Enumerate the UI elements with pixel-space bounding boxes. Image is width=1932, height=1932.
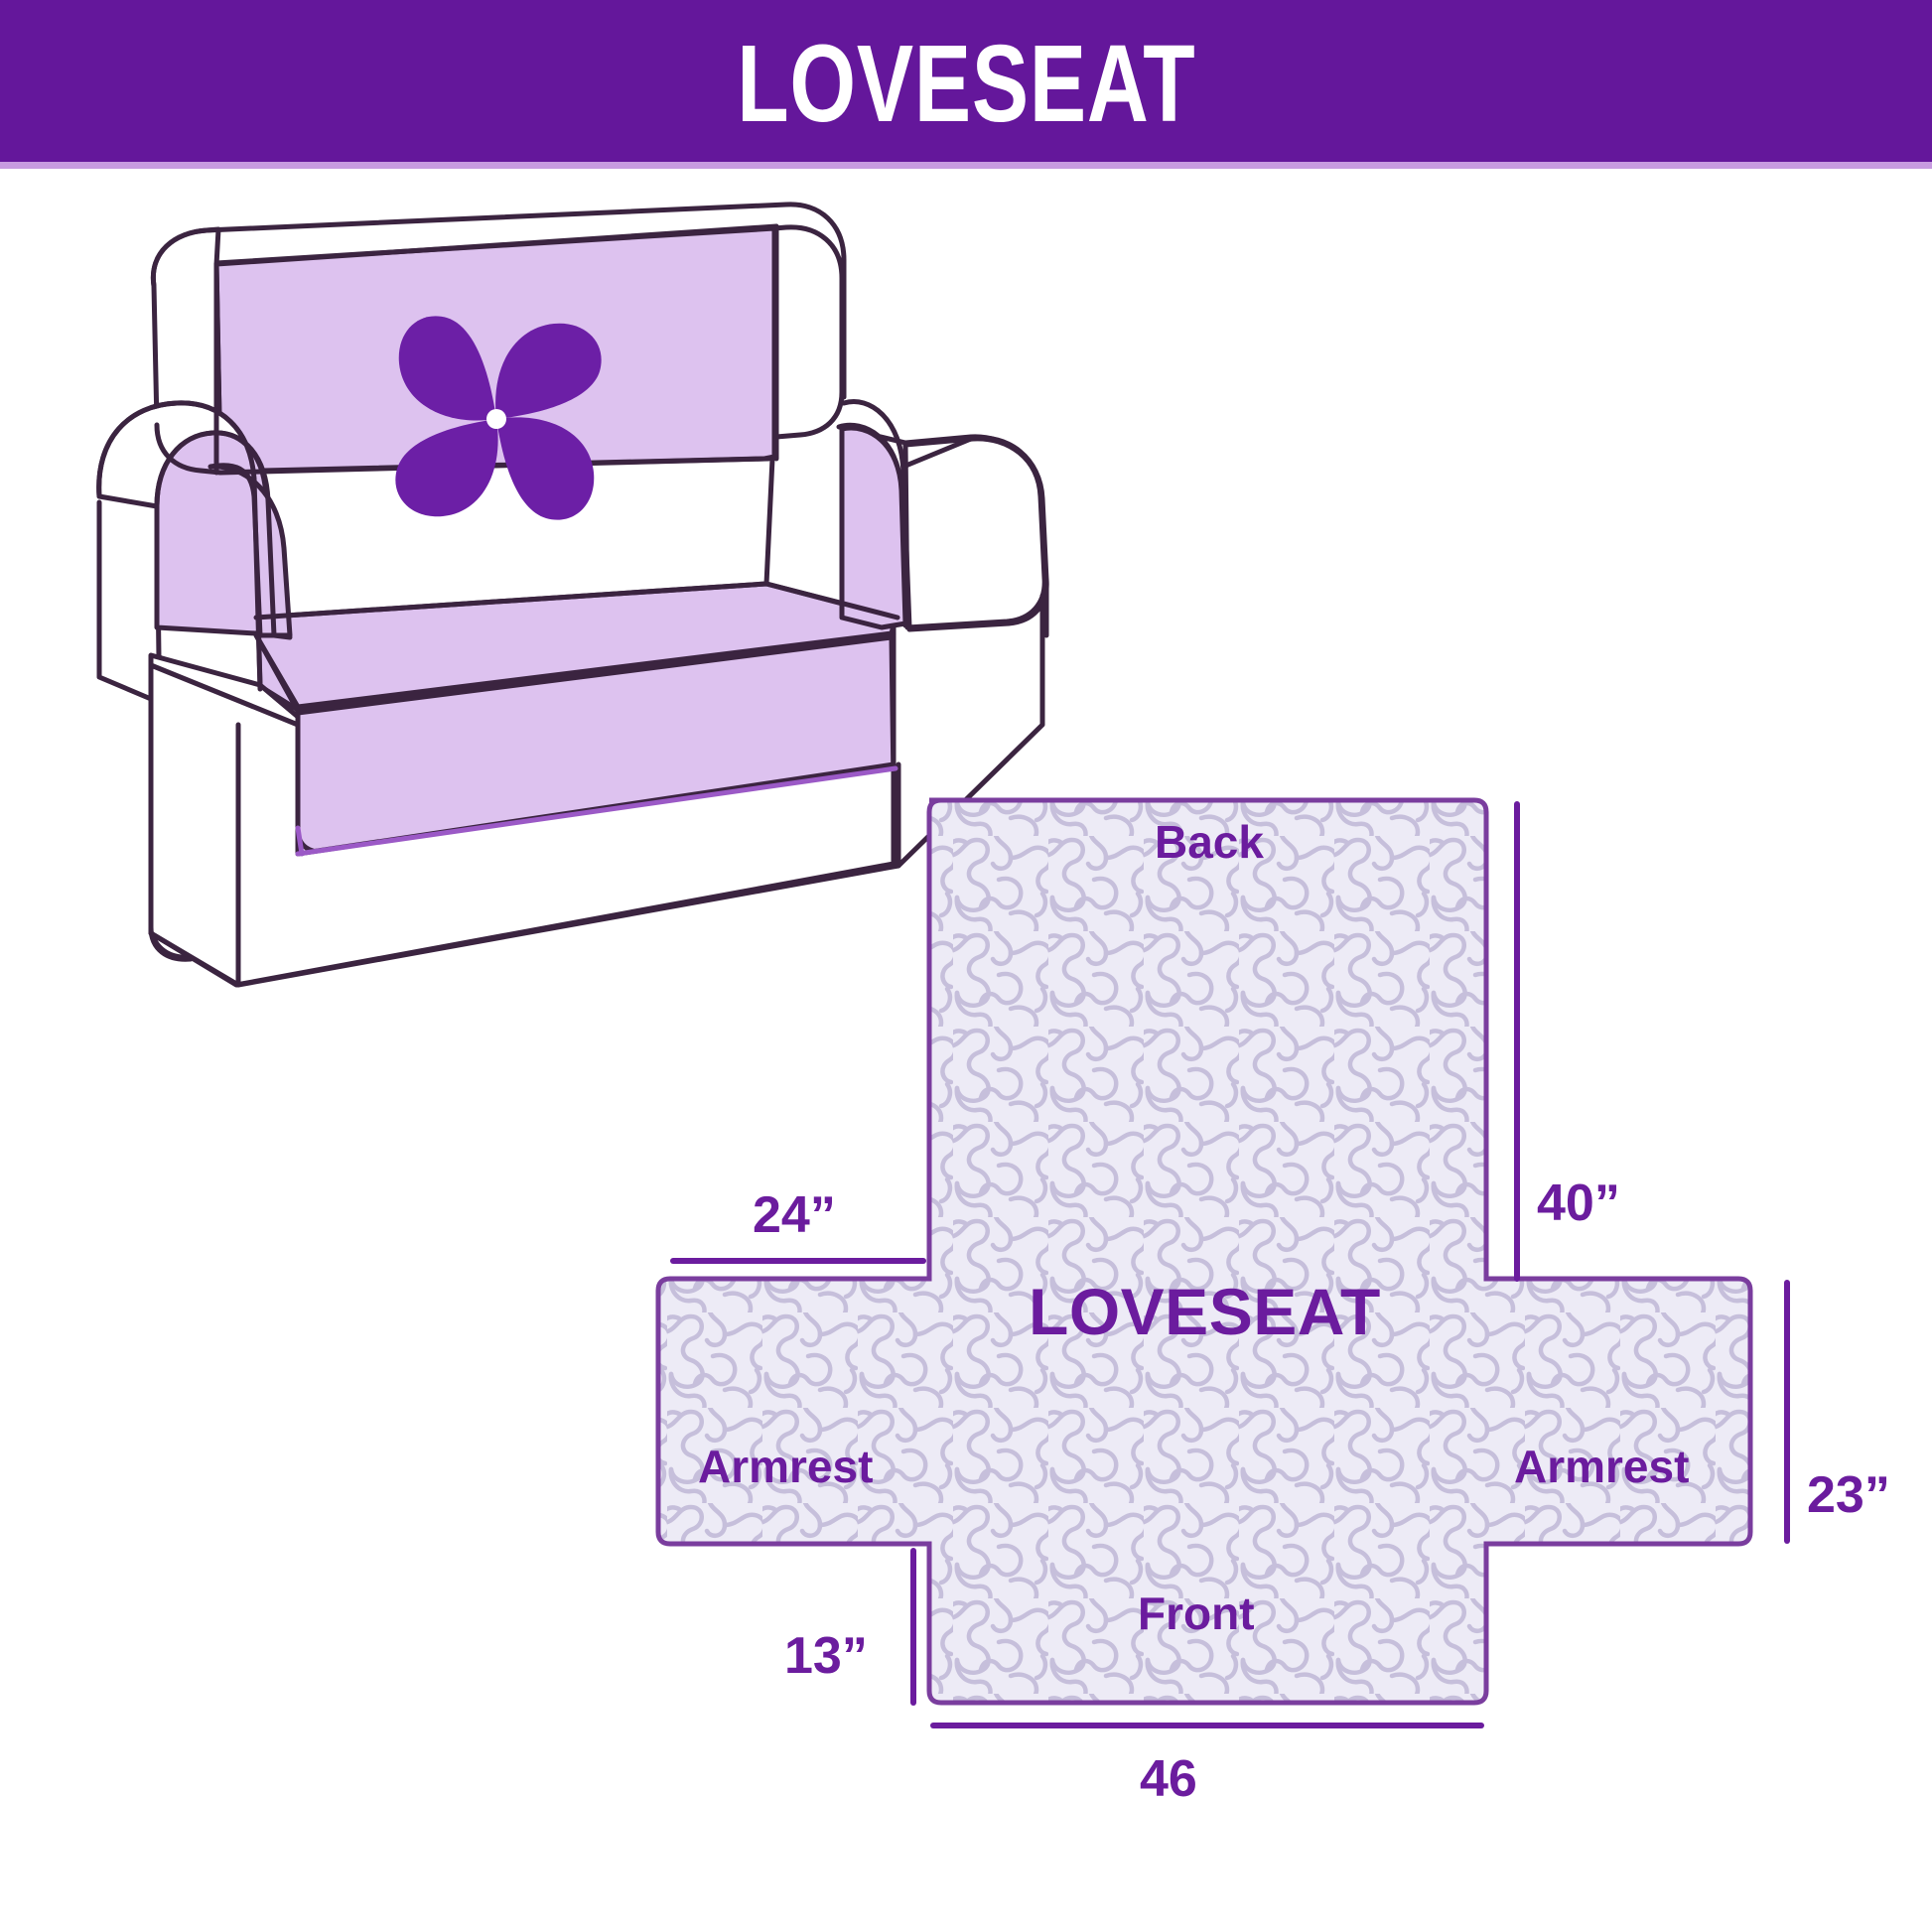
dimension-label-13: 13” xyxy=(784,1630,868,1682)
diagram-stage: Back Armrest Armrest Front LOVESEAT 40” … xyxy=(0,169,1932,1932)
dimension-label-24: 24” xyxy=(753,1189,836,1241)
page-title: LOVESEAT xyxy=(737,30,1195,139)
panel-label-armrest-left: Armrest xyxy=(698,1444,873,1489)
slipcover-flat-layout-diagram xyxy=(0,169,1932,1932)
panel-label-back: Back xyxy=(1155,819,1264,865)
dimension-label-23: 23” xyxy=(1807,1469,1890,1521)
panel-label-armrest-right: Armrest xyxy=(1514,1444,1689,1489)
dimension-label-46: 46 xyxy=(1140,1753,1197,1805)
dimension-label-40: 40” xyxy=(1537,1177,1620,1229)
header-banner: LOVESEAT xyxy=(0,0,1932,169)
center-label-loveseat: LOVESEAT xyxy=(1029,1279,1381,1344)
panel-label-front: Front xyxy=(1138,1590,1255,1636)
